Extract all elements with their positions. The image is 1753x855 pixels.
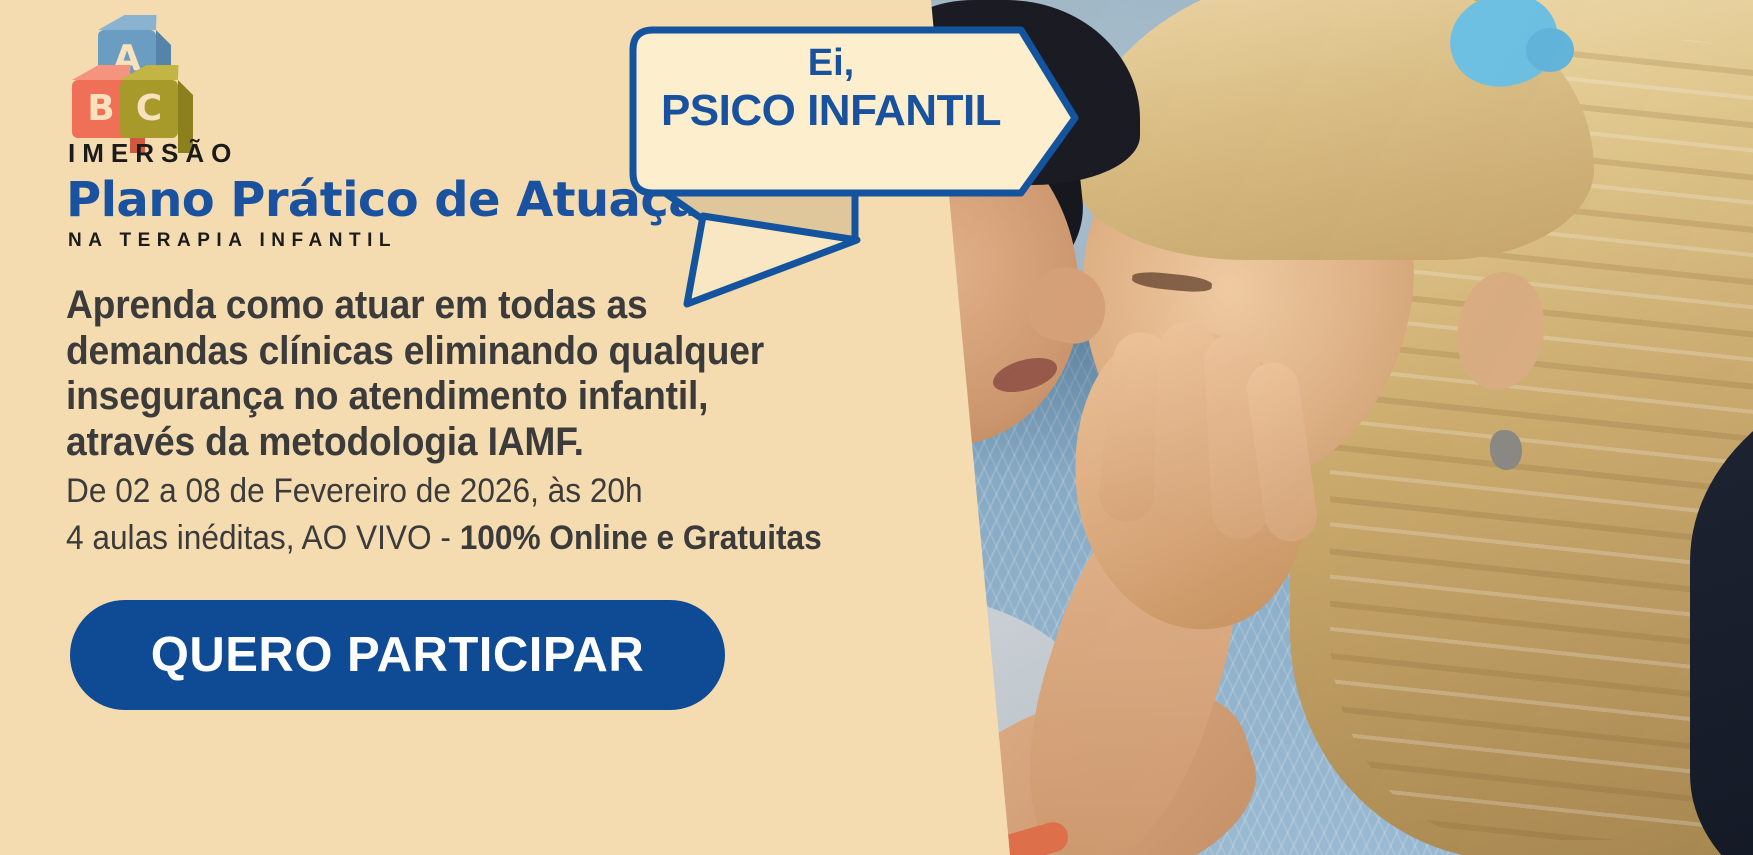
kicker-imersao: IMERSÃO [68, 138, 238, 169]
block-a-top-face [98, 15, 170, 30]
content-column: A B C IMERSÃO Plano Prático de Atuação N… [0, 0, 1753, 855]
event-details: De 02 a 08 de Fevereiro de 2026, às 20h … [66, 468, 903, 562]
headline-line-3: insegurança no atendimento infantil, [66, 374, 801, 420]
classes-highlight: 100% Online e Gratuitas [460, 519, 822, 557]
page-title: Plano Prático de Atuação [66, 172, 732, 228]
promo-banner: Ei, PSICO INFANTIL A B C IMERSÃO [0, 0, 1753, 855]
headline-line-4: através da metodologia IAMF. [66, 420, 801, 466]
block-c-letter: C [120, 80, 178, 138]
headline-line-1: Aprenda como atuar em todas as [66, 283, 801, 329]
classes-prefix: 4 aulas inéditas, AO VIVO - [66, 519, 460, 557]
cta-quero-participar-button[interactable]: QUERO PARTICIPAR [70, 600, 725, 710]
subtitle-terapia-infantil: NA TERAPIA INFANTIL [68, 230, 397, 252]
abc-blocks-logo: A B C [70, 28, 190, 140]
headline: Aprenda como atuar em todas as demandas … [66, 283, 801, 465]
headline-line-2: demandas clínicas eliminando qualquer [66, 329, 801, 375]
block-c-top-face [120, 65, 192, 80]
event-classes-line: 4 aulas inéditas, AO VIVO - 100% Online … [66, 515, 903, 562]
block-c-icon: C [120, 80, 178, 138]
event-date-line: De 02 a 08 de Fevereiro de 2026, às 20h [66, 468, 903, 515]
